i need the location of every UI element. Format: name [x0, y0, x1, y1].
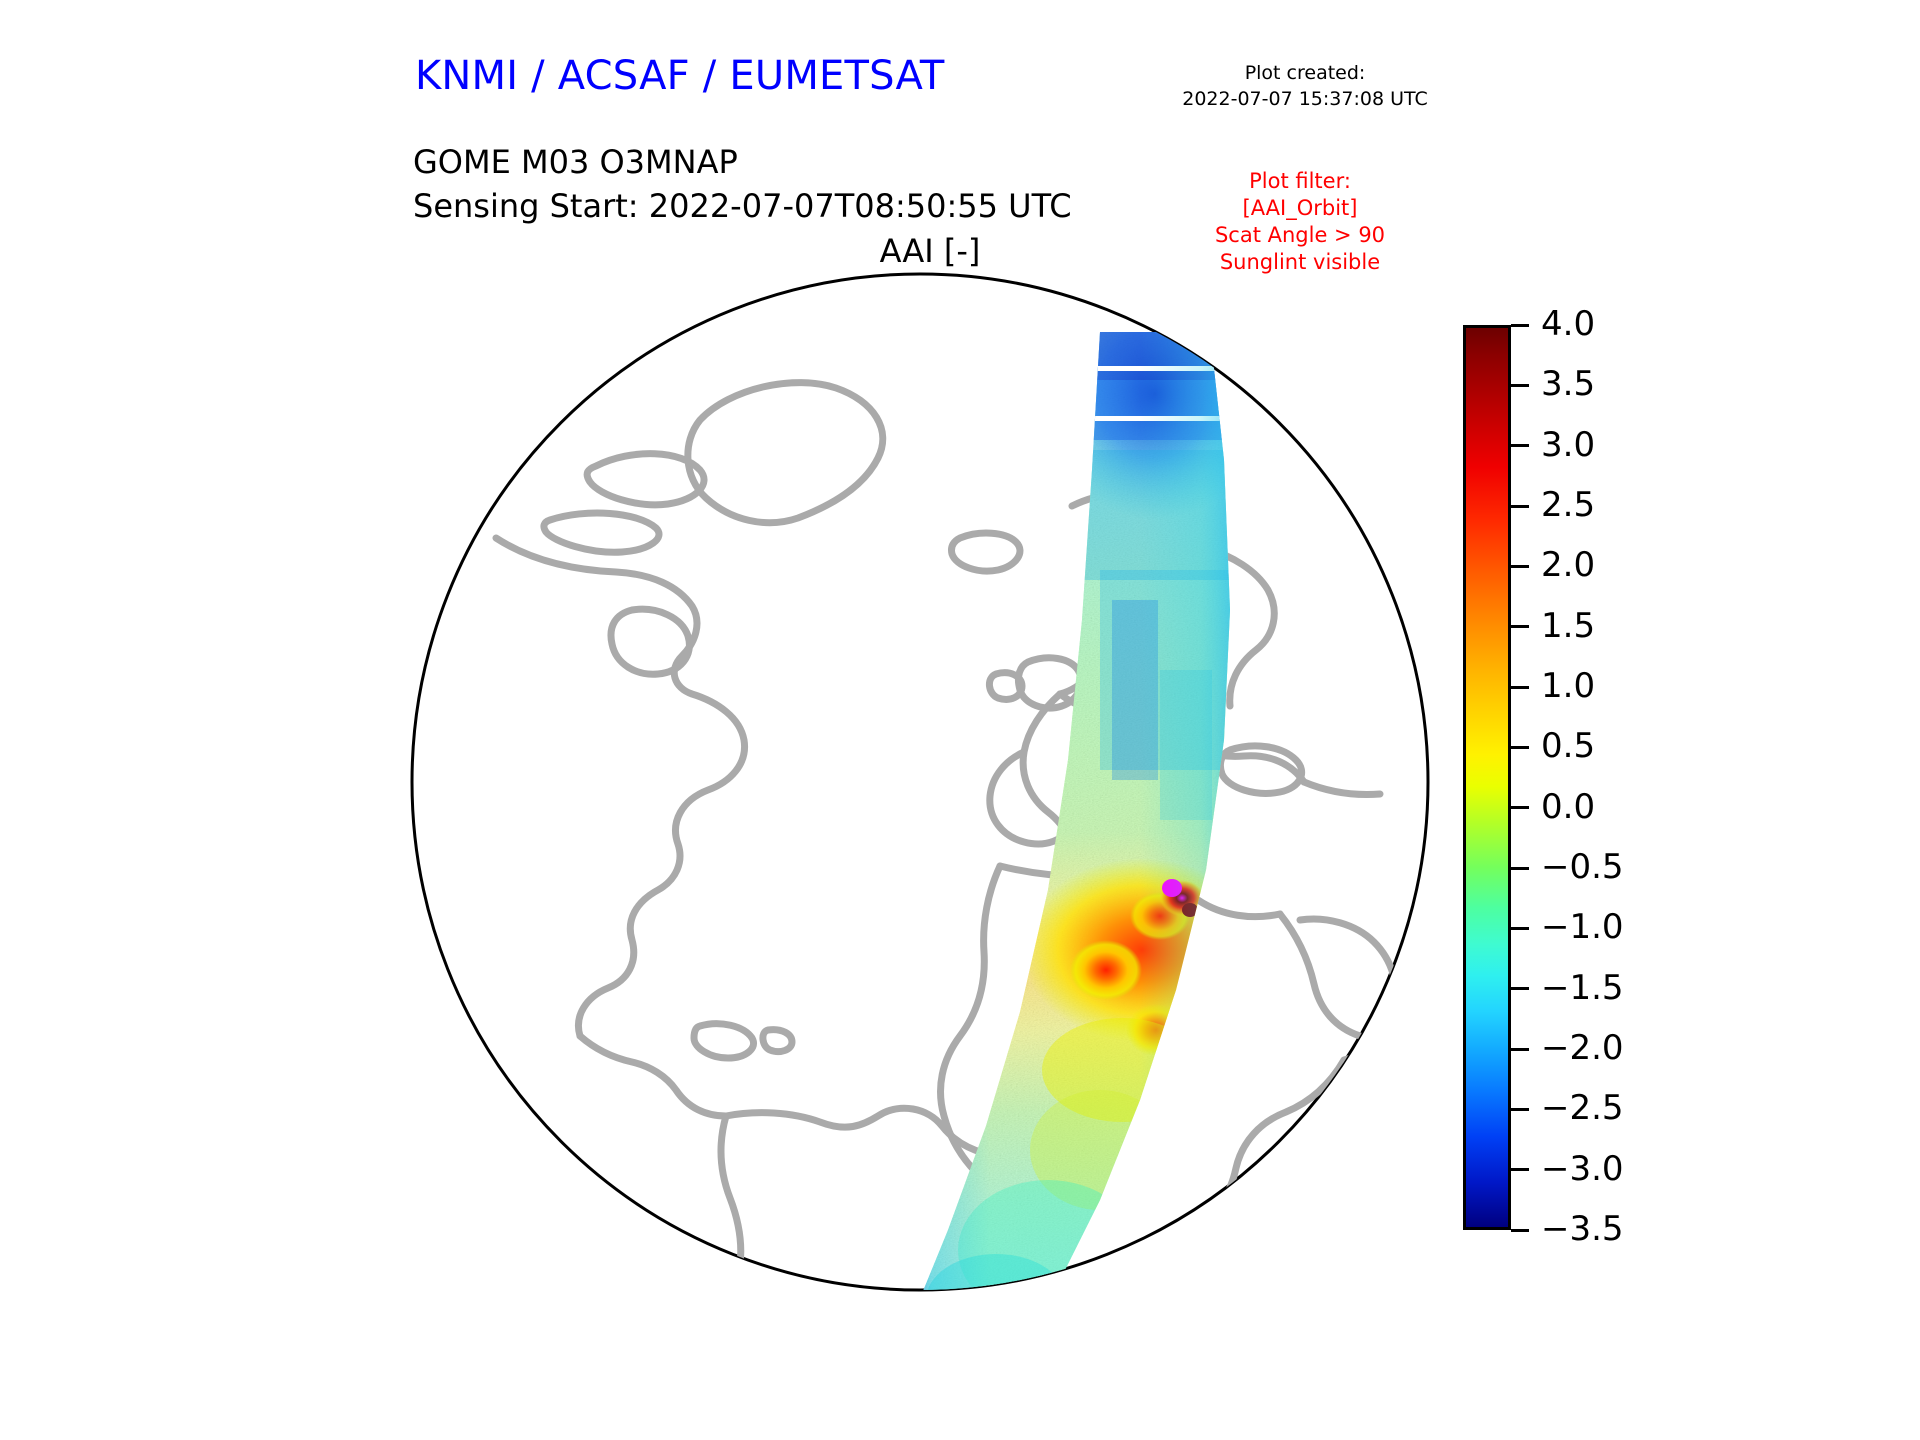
plot-filter-block: Plot filter: [AAI_Orbit] Scat Angle > 90…	[1150, 168, 1450, 276]
colorbar-tick	[1511, 625, 1529, 628]
colorbar-tick	[1511, 806, 1529, 809]
colorbar-gradient	[1463, 325, 1511, 1230]
colorbar-tick	[1511, 384, 1529, 387]
colorbar-tick-label: 2.0	[1541, 548, 1595, 582]
colorbar-tick	[1511, 444, 1529, 447]
globe-svg	[400, 270, 1440, 1310]
colorbar-tick-label: −3.5	[1541, 1212, 1624, 1246]
colorbar-tick-label: 1.5	[1541, 609, 1595, 643]
organisation-title: KNMI / ACSAF / EUMETSAT	[415, 53, 945, 99]
plot-created-block: Plot created: 2022-07-07 15:37:08 UTC	[1160, 60, 1450, 112]
plot-filter-line: [AAI_Orbit]	[1150, 195, 1450, 222]
colorbar-tick-label: 3.0	[1541, 428, 1595, 462]
colorbar-tick	[1511, 867, 1529, 870]
instrument-product-line: GOME M03 O3MNAP	[413, 140, 1072, 184]
sensing-start-line: Sensing Start: 2022-07-07T08:50:55 UTC	[413, 184, 1072, 228]
colorbar-tick-label: 0.0	[1541, 790, 1595, 824]
colorbar: 4.03.53.02.52.01.51.00.50.0−0.5−1.0−1.5−…	[1455, 285, 1815, 1295]
plot-created-timestamp: 2022-07-07 15:37:08 UTC	[1160, 86, 1450, 112]
plot-created-label: Plot created:	[1160, 60, 1450, 86]
globe-outline	[412, 274, 1428, 1290]
colorbar-tick-label: 3.5	[1541, 367, 1595, 401]
colorbar-tick	[1511, 927, 1529, 930]
colorbar-tick-label: 0.5	[1541, 729, 1595, 763]
colorbar-tick-label: 4.0	[1541, 307, 1595, 341]
dataset-info-block: GOME M03 O3MNAP Sensing Start: 2022-07-0…	[413, 140, 1072, 228]
colorbar-tick	[1511, 686, 1529, 689]
colorbar-tick	[1511, 1108, 1529, 1111]
globe-map	[400, 270, 1440, 1310]
colorbar-tick	[1511, 565, 1529, 568]
colorbar-tick-label: −1.0	[1541, 910, 1624, 944]
colorbar-tick	[1511, 505, 1529, 508]
colorbar-tick-label: −2.5	[1541, 1091, 1624, 1125]
colorbar-tick-label: 1.0	[1541, 669, 1595, 703]
plot-filter-line: Plot filter:	[1150, 168, 1450, 195]
colorbar-tick	[1511, 1168, 1529, 1171]
colorbar-tick-label: 2.5	[1541, 488, 1595, 522]
plot-filter-line: Scat Angle > 90	[1150, 222, 1450, 249]
colorbar-tick	[1511, 746, 1529, 749]
colorbar-tick-label: −1.5	[1541, 971, 1624, 1005]
colorbar-tick	[1511, 1048, 1529, 1051]
colorbar-tick	[1511, 1229, 1529, 1232]
colorbar-tick	[1511, 324, 1529, 327]
page-title: AAI [-]	[620, 232, 1240, 270]
colorbar-tick	[1511, 987, 1529, 990]
colorbar-tick-label: −3.0	[1541, 1152, 1624, 1186]
colorbar-tick-label: −0.5	[1541, 850, 1624, 884]
colorbar-tick-label: −2.0	[1541, 1031, 1624, 1065]
